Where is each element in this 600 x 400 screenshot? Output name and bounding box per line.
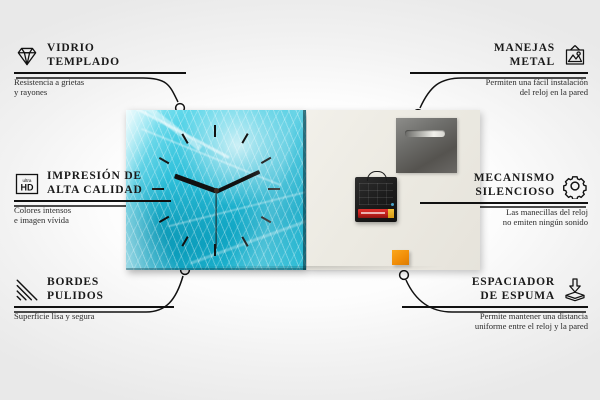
feature-bordes-pulidos: BORDESPULIDOS Superficie lisa y segura	[14, 276, 199, 321]
feature-divider	[410, 72, 588, 74]
feature-manejas-metal: MANEJASMETAL Permiten una fácil instalac…	[398, 42, 588, 98]
feature-divider	[14, 72, 186, 74]
feature-title: MANEJASMETAL	[494, 42, 555, 69]
metal-hanger-part	[396, 118, 457, 173]
wall-frame-icon	[562, 43, 588, 69]
polished-edges-icon	[14, 277, 40, 303]
clock-mechanism-part	[355, 177, 397, 222]
foam-spacer-icon	[562, 277, 588, 303]
feature-impresion-alta-calidad: ultra HD IMPRESIÓN DEALTA CALIDAD Colore…	[14, 170, 199, 226]
mechanism-indicator	[391, 203, 394, 206]
feature-vidrio-templado: VIDRIOTEMPLADO Resistencia a grietas y r…	[14, 42, 199, 98]
feature-description: Resistencia a grietas y rayones	[14, 77, 199, 98]
hanger-slot	[405, 130, 445, 137]
ultra-hd-icon: ultra HD	[14, 171, 40, 197]
feature-divider	[402, 306, 588, 308]
battery-cap	[388, 209, 394, 218]
feature-title: MECANISMOSILENCIOSO	[474, 172, 555, 199]
battery-part	[358, 209, 394, 218]
feature-divider	[14, 200, 171, 202]
feature-description: Permiten una fácil instalación del reloj…	[398, 77, 588, 98]
svg-text:HD: HD	[21, 182, 34, 192]
battery-stripe	[361, 212, 385, 214]
feature-title: VIDRIOTEMPLADO	[47, 42, 120, 69]
feature-divider	[14, 306, 174, 308]
gear-icon	[562, 173, 588, 199]
infographic-canvas: VIDRIOTEMPLADO Resistencia a grietas y r…	[0, 0, 600, 400]
panel-right-edge	[303, 110, 306, 270]
diamond-icon	[14, 43, 40, 69]
feature-espaciador-espuma: ESPACIADORDE ESPUMA Permite mantener una…	[392, 276, 588, 332]
feature-title: BORDESPULIDOS	[47, 276, 104, 303]
feature-description: Colores intensos e imagen vívida	[14, 205, 199, 226]
feature-title: IMPRESIÓN DEALTA CALIDAD	[47, 170, 143, 197]
feature-title: ESPACIADORDE ESPUMA	[472, 276, 555, 303]
foam-spacer-part	[392, 250, 409, 265]
feature-description: Superficie lisa y segura	[14, 311, 199, 322]
mechanism-texture	[359, 183, 393, 205]
feature-description: Las manecillas del reloj no emiten ningú…	[398, 207, 588, 228]
feature-divider	[420, 202, 588, 204]
feature-mecanismo-silencioso: MECANISMOSILENCIOSO Las manecillas del r…	[398, 172, 588, 228]
mechanism-hang-loop	[367, 171, 387, 181]
feature-description: Permite mantener una distancia uniforme …	[392, 311, 588, 332]
